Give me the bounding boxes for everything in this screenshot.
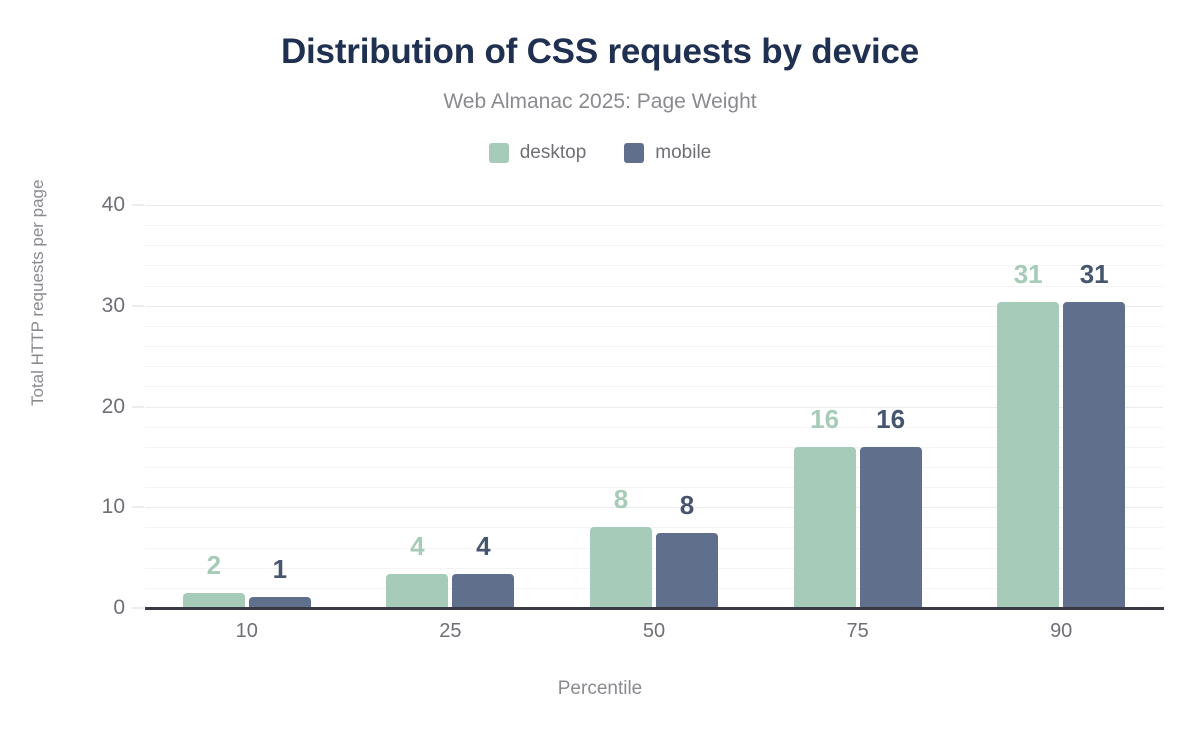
bar-desktop-p25[interactable] [386,574,448,608]
y-axis-tick-label: 0 [15,596,125,620]
bar-mobile-p75[interactable] [860,447,922,608]
x-axis-tick-label: 75 [798,620,918,643]
y-axis-tick-label: 40 [15,193,125,217]
bar-desktop-p90[interactable] [997,302,1059,608]
x-axis-tick-label: 10 [187,620,307,643]
y-axis-tick-mark [132,608,144,609]
chart-title: Distribution of CSS requests by device [0,32,1200,72]
legend-item-desktop[interactable]: desktop [489,142,587,164]
gridline-minor [145,225,1163,226]
gridline-major [145,205,1163,206]
x-axis-tick-label: 25 [390,620,510,643]
legend-swatch-desktop [489,143,509,163]
bar-desktop-p75[interactable] [794,447,856,608]
y-axis-tick-mark [132,305,144,306]
legend-label-desktop: desktop [520,142,587,164]
bar-value-label-mobile-p10: 1 [235,554,325,585]
bar-mobile-p50[interactable] [656,533,718,608]
gridline-minor [145,245,1163,246]
bar-desktop-p50[interactable] [590,527,652,608]
bar-value-label-mobile-p50: 8 [642,490,732,521]
y-axis-tick-label: 20 [15,395,125,419]
chart-subtitle: Web Almanac 2025: Page Weight [0,90,1200,114]
plot-area: 21448816163131 [145,205,1163,608]
chart-container: Distribution of CSS requests by device W… [0,0,1200,742]
bar-mobile-p25[interactable] [452,574,514,608]
bar-desktop-p10[interactable] [183,593,245,608]
y-axis-tick-mark [132,406,144,407]
chart-legend: desktop mobile [0,142,1200,164]
x-axis-tick-label: 90 [1001,620,1121,643]
x-axis-title: Percentile [0,678,1200,700]
x-axis-baseline [145,607,1164,610]
bar-mobile-p90[interactable] [1063,302,1125,608]
legend-swatch-mobile [624,143,644,163]
legend-label-mobile: mobile [655,142,711,164]
bar-value-label-mobile-p75: 16 [846,404,936,435]
bar-value-label-mobile-p90: 31 [1049,259,1139,290]
y-axis-tick-mark [132,205,144,206]
y-axis-tick-label: 10 [15,495,125,519]
bar-value-label-mobile-p25: 4 [438,531,528,562]
x-axis-tick-label: 50 [594,620,714,643]
y-axis-tick-mark [132,507,144,508]
legend-item-mobile[interactable]: mobile [624,142,711,164]
y-axis-tick-label: 30 [15,294,125,318]
